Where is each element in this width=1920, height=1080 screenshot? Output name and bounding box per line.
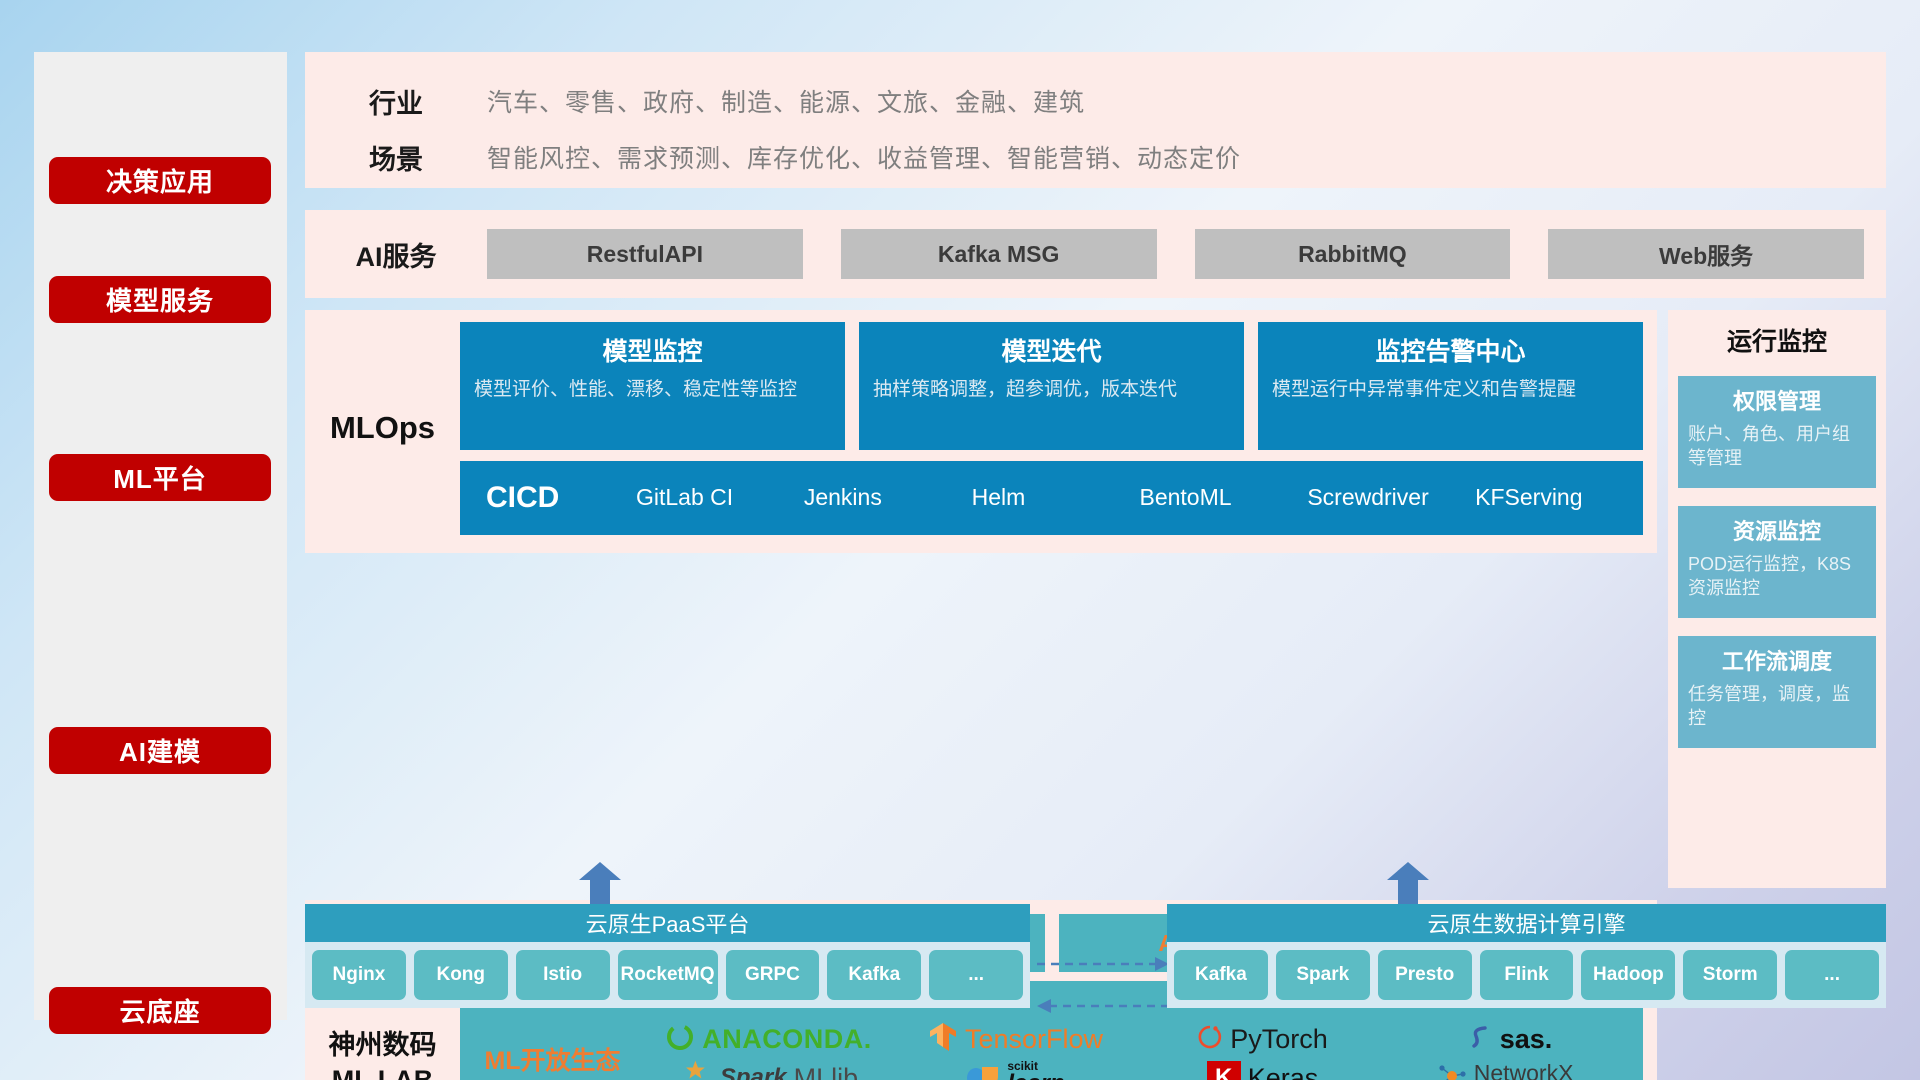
cloud-chip-more[interactable]: ... [929,950,1023,1000]
ml-lab-label-line1: 神州数码 [329,1028,437,1063]
monitor-card-resource[interactable]: 资源监控 POD运行监控，K8S资源监控 [1678,506,1876,618]
cicd-item-kfserving[interactable]: KFServing [1475,484,1643,511]
cloud-chip-more-engine[interactable]: ... [1785,950,1879,1000]
card-title: 资源监控 [1688,514,1866,546]
cloud-chip-spark[interactable]: Spark [1276,950,1370,1000]
rail-chip-decision-apps[interactable]: 决策应用 [49,157,271,204]
cicd-title: CICD [486,481,636,515]
service-box-kafka-msg[interactable]: Kafka MSG [841,229,1157,279]
mlops-label: MLOps [305,322,460,446]
upward-arrow-paas [577,862,623,904]
logo-prefix: Spark [720,1064,787,1080]
logo-label: learn [1007,1072,1064,1080]
rail-chip-cloud-base[interactable]: 云底座 [49,987,271,1034]
ml-ecosystem-logos: ANACONDA. TensorFlow [645,1020,1643,1080]
logo-networkx: NetworkX Network Analysis in Python [1437,1061,1583,1080]
cloud-foundation-zone: 云原生PaaS平台 Nginx Kong Istio RocketMQ GRPC… [305,862,1886,1022]
monitor-card-workflow[interactable]: 工作流调度 任务管理，调度，监控 [1678,636,1876,748]
mlops-card-alert-center[interactable]: 监控告警中心 模型运行中异常事件定义和告警提醒 [1258,322,1643,450]
keras-icon: K [1207,1061,1241,1080]
logo-sas: sas. [1467,1022,1553,1057]
card-desc: 抽样策略调整，超参调优，版本迭代 [873,377,1230,402]
rail-chip-ai-modeling[interactable]: AI建模 [49,727,271,774]
cloud-chip-kafka-engine[interactable]: Kafka [1174,950,1268,1000]
scenario-label: 场景 [305,138,487,177]
cloud-chip-kong[interactable]: Kong [414,950,508,1000]
logo-label: PyTorch [1230,1024,1328,1055]
pytorch-icon [1197,1022,1223,1057]
layer-rail: 决策应用 模型服务 ML平台 AI建模 云底座 [34,52,287,1020]
cloud-paas-chips: Nginx Kong Istio RocketMQ GRPC Kafka ... [305,942,1030,1008]
service-box-restfulapi[interactable]: RestfulAPI [487,229,803,279]
cloud-chip-storm[interactable]: Storm [1683,950,1777,1000]
logo-label: sas. [1500,1024,1553,1055]
logo-label: ANACONDA. [702,1024,872,1055]
decision-apps-band: 行业 汽车、零售、政府、制造、能源、文旅、金融、建筑 场景 智能风控、需求预测、… [305,52,1886,188]
logo-tensorflow: TensorFlow [928,1021,1103,1058]
logo-keras: K Keras [1207,1061,1319,1080]
architecture-diagram: 决策应用 模型服务 ML平台 AI建模 云底座 行业 汽车、零售、政府、制造、能… [0,0,1920,1080]
rail-chip-model-service[interactable]: 模型服务 [49,276,271,323]
logo-scikit-learn: scikit learn [966,1060,1064,1080]
card-desc: 模型评价、性能、漂移、稳定性等监控 [474,377,831,402]
industry-label: 行业 [305,82,487,121]
cloud-chip-rocketmq[interactable]: RocketMQ [618,950,718,1000]
cloud-engine-title: 云原生数据计算引擎 [1167,904,1886,942]
cicd-item-jenkins[interactable]: Jenkins [804,484,972,511]
cloud-paas-group: 云原生PaaS平台 Nginx Kong Istio RocketMQ GRPC… [305,904,1030,1008]
card-title: 模型监控 [474,332,831,368]
rail-chip-ml-platform[interactable]: ML平台 [49,454,271,501]
upward-arrow-engine [1385,862,1431,904]
monitor-card-permission[interactable]: 权限管理 账户、角色、用户组等管理 [1678,376,1876,488]
ml-lab-label-line2: ML LAB [329,1063,437,1080]
cicd-item-bentoml[interactable]: BentoML [1139,484,1307,511]
logo-anaconda: ANACONDA. [665,1022,872,1057]
spark-icon [679,1059,713,1080]
cloud-chip-istio[interactable]: Istio [516,950,610,1000]
card-title: 工作流调度 [1688,644,1866,676]
ml-ecosystem-label: ML开放生态 [460,1041,645,1077]
bidirectional-dashed-connector [1033,950,1173,1022]
card-desc: POD运行监控，K8S资源监控 [1688,552,1866,601]
mlops-band: MLOps 模型监控 模型评价、性能、漂移、稳定性等监控 模型迭代 抽样策略调整… [305,310,1657,553]
logo-label: Keras [1248,1063,1319,1080]
cloud-chip-flink[interactable]: Flink [1480,950,1574,1000]
card-desc: 账户、角色、用户组等管理 [1688,422,1866,471]
industry-values: 汽车、零售、政府、制造、能源、文旅、金融、建筑 [487,83,1085,119]
anaconda-icon [665,1022,695,1057]
logo-pytorch: PyTorch [1197,1022,1328,1057]
industry-row: 行业 汽车、零售、政府、制造、能源、文旅、金融、建筑 [305,73,1886,129]
cicd-item-screwdriver[interactable]: Screwdriver [1307,484,1475,511]
card-title: 权限管理 [1688,384,1866,416]
cloud-chip-nginx[interactable]: Nginx [312,950,406,1000]
card-title: 监控告警中心 [1272,332,1629,368]
card-desc: 模型运行中异常事件定义和告警提醒 [1272,377,1629,402]
mlops-cards: 模型监控 模型评价、性能、漂移、稳定性等监控 模型迭代 抽样策略调整，超参调优，… [460,322,1643,450]
cicd-bar: CICD GitLab CI Jenkins Helm BentoML Scre… [460,461,1643,535]
scenario-row: 场景 智能风控、需求预测、库存优化、收益管理、智能营销、动态定价 [305,129,1886,185]
networkx-icon [1437,1061,1467,1080]
logo-label: MLlib [794,1063,859,1080]
scenario-values: 智能风控、需求预测、库存优化、收益管理、智能营销、动态定价 [487,139,1241,175]
ai-service-band: AI服务 RestfulAPI Kafka MSG RabbitMQ Web服务 [305,210,1886,298]
card-title: 模型迭代 [873,332,1230,368]
ai-service-label: AI服务 [305,235,487,274]
cloud-chip-hadoop[interactable]: Hadoop [1581,950,1675,1000]
service-box-rabbitmq[interactable]: RabbitMQ [1195,229,1511,279]
sas-icon [1467,1022,1493,1057]
logo-label: TensorFlow [965,1024,1103,1055]
cloud-chip-presto[interactable]: Presto [1378,950,1472,1000]
monitor-panel-title: 运行监控 [1678,322,1876,358]
card-desc: 任务管理，调度，监控 [1688,682,1866,731]
cicd-item-gitlab-ci[interactable]: GitLab CI [636,484,804,511]
cloud-chip-grpc[interactable]: GRPC [726,950,820,1000]
ai-service-items: RestfulAPI Kafka MSG RabbitMQ Web服务 [487,229,1886,279]
service-box-web-service[interactable]: Web服务 [1548,229,1864,279]
cloud-engine-group: 云原生数据计算引擎 Kafka Spark Presto Flink Hadoo… [1167,904,1886,1008]
mlops-card-model-iteration[interactable]: 模型迭代 抽样策略调整，超参调优，版本迭代 [859,322,1244,450]
mlops-card-model-monitoring[interactable]: 模型监控 模型评价、性能、漂移、稳定性等监控 [460,322,845,450]
mlops-row: MLOps 模型监控 模型评价、性能、漂移、稳定性等监控 模型迭代 抽样策略调整… [305,310,1886,888]
runtime-monitor-panel: 运行监控 权限管理 账户、角色、用户组等管理 资源监控 POD运行监控，K8S资… [1668,310,1886,888]
cloud-paas-title: 云原生PaaS平台 [305,904,1030,942]
logo-spark-mllib: Spark MLlib [679,1059,858,1080]
tensorflow-icon [928,1021,958,1058]
logo-label: NetworkX [1474,1061,1583,1080]
mlops-content: 模型监控 模型评价、性能、漂移、稳定性等监控 模型迭代 抽样策略调整，超参调优，… [460,322,1657,535]
cloud-engine-chips: Kafka Spark Presto Flink Hadoop Storm ..… [1167,942,1886,1008]
cicd-item-helm[interactable]: Helm [972,484,1140,511]
scikit-icon [966,1061,1000,1080]
cloud-chip-kafka[interactable]: Kafka [827,950,921,1000]
